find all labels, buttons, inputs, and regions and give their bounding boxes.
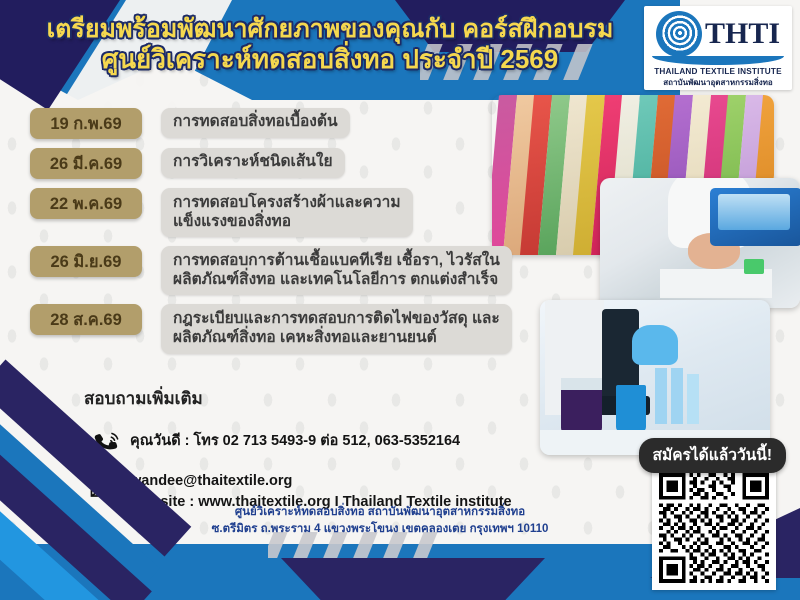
contact-heading: สอบถามเพิ่มเติม [84,385,604,412]
phone-contact-row: คุณวันดี : โทร 02 713 5493-9 ต่อ 512, 06… [84,426,604,460]
logo-swoosh-icon [652,56,784,65]
contact-section: สอบถามเพิ่มเติม คุณวันดี : โทร 02 713 54… [84,385,604,519]
title-line-1: เตรียมพร้อมพัฒนาศักยภาพของคุณกับ คอร์สฝึ… [0,16,660,43]
course-list: 19 ก.พ.69 การทดสอบสิ่งทอเบื้องต้น 26 มี.… [30,108,610,363]
poster-title: เตรียมพร้อมพัฒนาศักยภาพของคุณกับ คอร์สฝึ… [0,16,660,73]
title-line-2: ศูนย์วิเคราะห์ทดสอบสิ่งทอ ประจำปี 2569 [0,45,660,73]
course-date-badge: 22 พ.ค.69 [30,188,142,219]
course-row[interactable]: 26 มี.ค.69 การวิเคราะห์ชนิดเส้นใย [30,148,610,179]
logo-name-en: THAILAND TEXTILE INSTITUTE [654,67,782,76]
lab-technician-photo [600,178,800,308]
qr-code-icon[interactable] [652,466,776,590]
course-date-badge: 19 ก.พ.69 [30,108,142,139]
course-row[interactable]: 22 พ.ค.69 การทดสอบโครงสร้างผ้าและความแข็… [30,188,610,237]
logo-acronym: THTI [705,19,780,49]
address-line-2: ซ.ตรีมิตร ถ.พระราม 4 แขวงพระโขนง เขตคลอง… [0,521,760,538]
course-title: การทดสอบโครงสร้างผ้าและความแข็งแรงของสิ่… [161,188,413,237]
course-row[interactable]: 28 ส.ค.69 กฎระเบียบและการทดสอบการติดไฟขอ… [30,304,610,353]
qr-code-image [659,473,769,583]
course-title: กฎระเบียบและการทดสอบการติดไฟของวัสดุ และ… [161,304,512,353]
course-row[interactable]: 26 มิ.ย.69 การทดสอบการต้านเชื้อแบคทีเรีย… [30,246,610,295]
poster-root: THTI THAILAND TEXTILE INSTITUTE สถาบันพั… [0,0,800,600]
register-now-badge[interactable]: สมัครได้แล้ววันนี้! [639,438,786,473]
course-title: การทดสอบการต้านเชื้อแบคทีเรีย เชื้อรา, ไ… [161,246,512,295]
logo-top-row: THTI [656,9,780,59]
lab-technician-image [600,178,800,308]
spiral-logo-icon [656,11,702,57]
course-date-badge: 28 ส.ค.69 [30,304,142,335]
thti-logo: THTI THAILAND TEXTILE INSTITUTE สถาบันพั… [644,6,792,90]
course-date-badge: 26 มี.ค.69 [30,148,142,179]
email-address[interactable]: wandee@thaitextile.org [130,471,512,492]
footer-address: ศูนย์วิเคราะห์ทดสอบสิ่งทอ สถาบันพัฒนาอุต… [0,504,760,539]
course-title: การทดสอบสิ่งทอเบื้องต้น [161,108,350,138]
logo-name-th: สถาบันพัฒนาอุตสาหกรรมสิ่งทอ [663,76,772,89]
course-title: การวิเคราะห์ชนิดเส้นใย [161,148,345,178]
course-row[interactable]: 19 ก.พ.69 การทดสอบสิ่งทอเบื้องต้น [30,108,610,139]
phone-text: คุณวันดี : โทร 02 713 5493-9 ต่อ 512, 06… [130,426,460,452]
address-line-1: ศูนย์วิเคราะห์ทดสอบสิ่งทอ สถาบันพัฒนาอุต… [0,504,760,521]
course-date-badge: 26 มิ.ย.69 [30,246,142,277]
